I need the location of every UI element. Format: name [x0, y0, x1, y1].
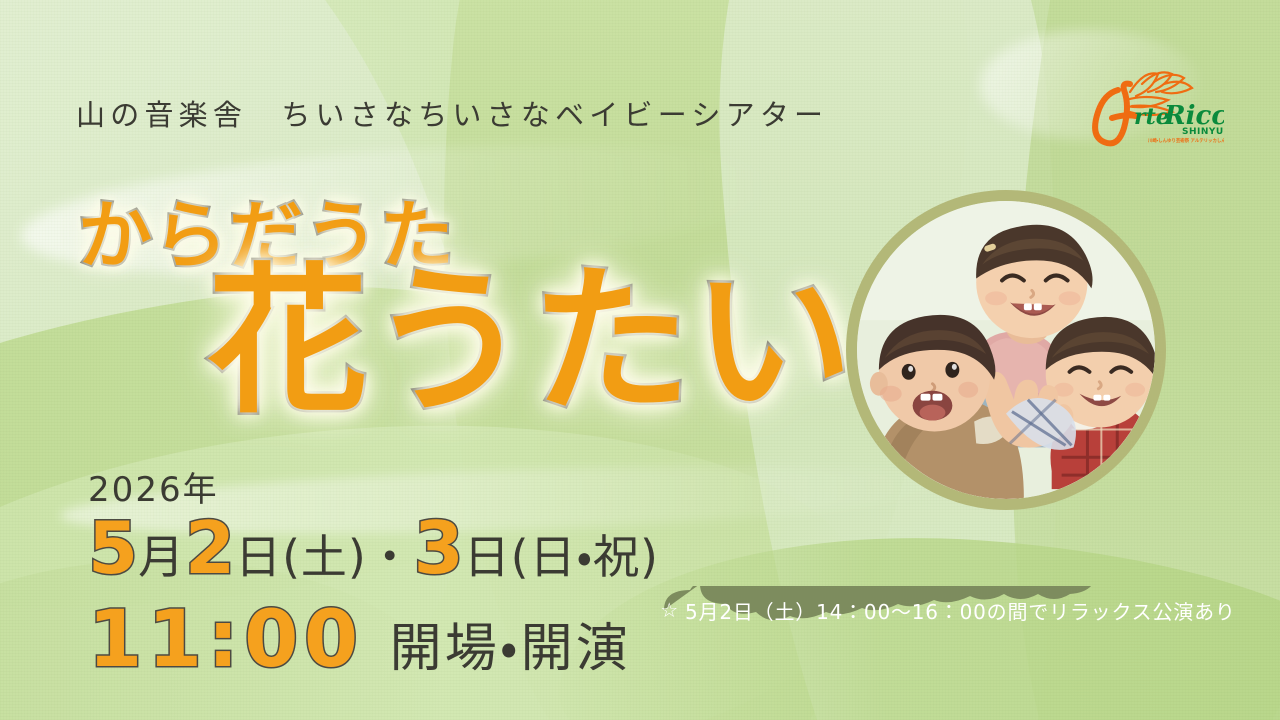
schedule-day1-weekday: (土): [282, 533, 367, 581]
star-icon: ☆: [660, 600, 679, 620]
title-primary: 花うたい: [208, 262, 854, 422]
schedule-separator: ・: [367, 533, 414, 581]
logo-tagline: 川崎・しんゆり芸術祭 アルテリッカしんゆり: [1147, 137, 1224, 144]
schedule-block: 2026年 5 月 2 日 (土) ・ 3 日 (日・祝) 11:00 開場・開…: [88, 462, 659, 679]
schedule-day1-kanji: 日: [235, 533, 282, 581]
logo-shinyuri: SHINYURI: [1182, 127, 1224, 137]
schedule-time-label: 開場・開演: [390, 623, 631, 675]
schedule-year: 2026年: [88, 462, 659, 511]
arte-ricca-logo[interactable]: rte Ricca SHINYURI 川崎・しんゆり芸術祭 アルテリッカしんゆり: [1072, 62, 1224, 148]
schedule-month-number: 5: [88, 511, 138, 587]
schedule-month-kanji: 月: [138, 533, 185, 581]
series-subtitle: 山の音楽舎 ちいさなちいさなベイビーシアター: [76, 92, 828, 134]
banner-text-row: ☆ 5月2日（土）14：00〜16：00の間でリラックス公演あり: [648, 586, 1248, 634]
schedule-day2-weekday: (日・祝): [511, 533, 659, 581]
schedule-time-line: 11:00 開場・開演: [88, 601, 659, 679]
baby-photo: [857, 201, 1155, 499]
schedule-day1-number: 2: [185, 511, 235, 587]
banner-label: 5月2日（土）14：00〜16：00の間でリラックス公演あり: [685, 596, 1236, 625]
schedule-date-line: 5 月 2 日 (土) ・ 3 日 (日・祝): [88, 511, 659, 587]
poster-canvas: 山の音楽舎 ちいさなちいさなベイビーシアター からだうた 花うたい 2026年 …: [0, 0, 1280, 720]
baby-photo-circle: [846, 190, 1166, 510]
schedule-time: 11:00: [88, 601, 364, 679]
schedule-day2-kanji: 日: [464, 533, 511, 581]
relax-performance-banner: ☆ 5月2日（土）14：00〜16：00の間でリラックス公演あり: [648, 586, 1248, 634]
schedule-day2-number: 3: [414, 511, 464, 587]
